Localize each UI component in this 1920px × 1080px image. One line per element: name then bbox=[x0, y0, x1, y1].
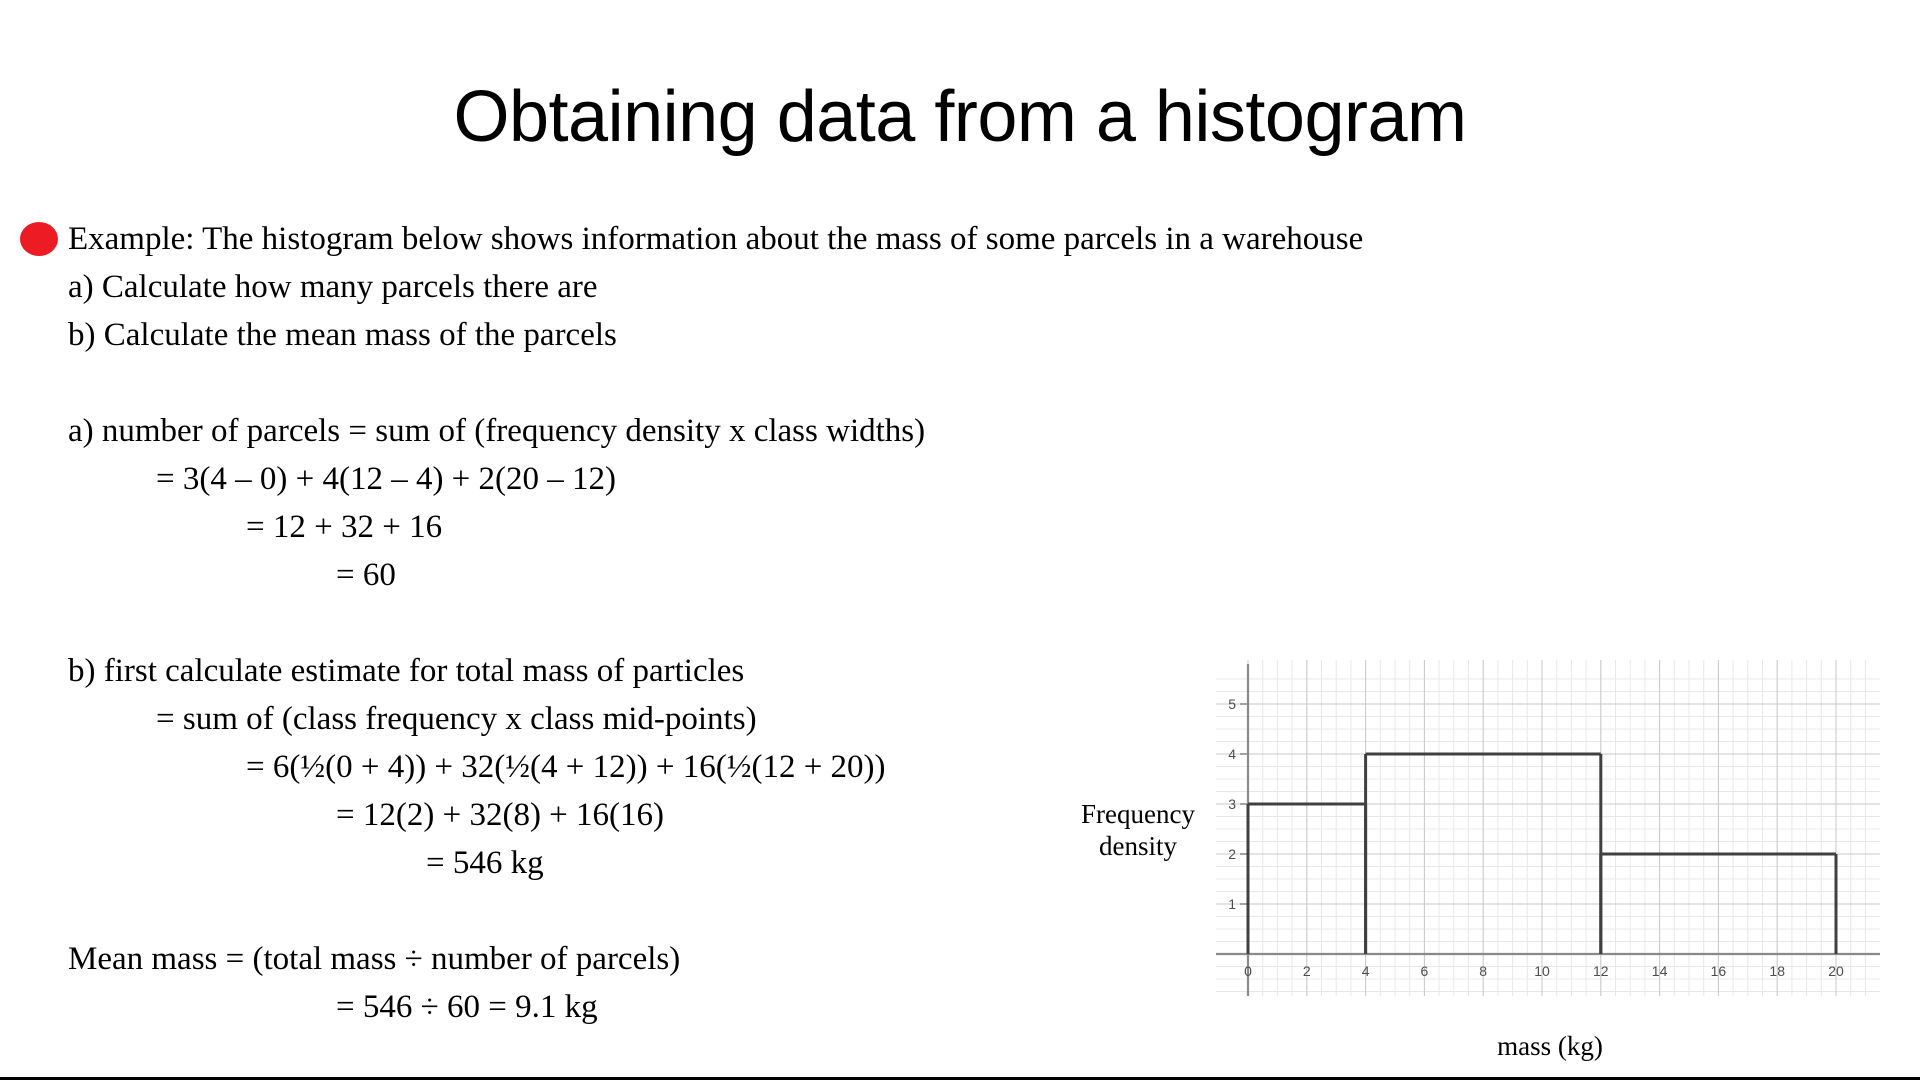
chart-y-axis-label: Frequencydensity bbox=[1068, 798, 1208, 862]
x-tick-label: 10 bbox=[1534, 963, 1550, 979]
chart-y-axis-label-line: density bbox=[1068, 830, 1208, 862]
page-title: Obtaining data from a histogram bbox=[0, 76, 1920, 158]
chart-x-axis-label: mass (kg) bbox=[1420, 1030, 1680, 1062]
body-text-line: = 12 + 32 + 16 bbox=[68, 503, 1868, 551]
text-spacer bbox=[68, 599, 1868, 647]
x-tick-label: 18 bbox=[1769, 963, 1785, 979]
y-tick-label: 4 bbox=[1228, 746, 1236, 762]
x-tick-label: 16 bbox=[1711, 963, 1727, 979]
body-text-line: b) Calculate the mean mass of the parcel… bbox=[68, 311, 1868, 359]
body-text-line: Example: The histogram below shows infor… bbox=[68, 215, 1868, 263]
histogram-plot-area: 1234502468101214161820 bbox=[1216, 660, 1880, 996]
x-tick-label: 2 bbox=[1303, 963, 1311, 979]
slide-canvas: Obtaining data from a histogram Example:… bbox=[0, 0, 1920, 1080]
chart-y-axis-label-line: Frequency bbox=[1068, 798, 1208, 830]
y-tick-label: 5 bbox=[1228, 696, 1236, 712]
x-tick-label: 12 bbox=[1593, 963, 1609, 979]
x-tick-label: 6 bbox=[1421, 963, 1429, 979]
body-text-line: a) number of parcels = sum of (frequency… bbox=[68, 407, 1868, 455]
text-spacer bbox=[68, 359, 1868, 407]
body-text-line: = 60 bbox=[68, 551, 1868, 599]
x-tick-label: 20 bbox=[1828, 963, 1844, 979]
y-tick-label: 1 bbox=[1228, 896, 1236, 912]
x-tick-label: 4 bbox=[1362, 963, 1370, 979]
x-tick-label: 0 bbox=[1244, 963, 1252, 979]
red-bullet-icon bbox=[20, 222, 58, 256]
y-tick-label: 2 bbox=[1228, 846, 1236, 862]
y-tick-label: 3 bbox=[1228, 796, 1236, 812]
x-tick-label: 14 bbox=[1652, 963, 1668, 979]
x-tick-label: 8 bbox=[1479, 963, 1487, 979]
body-text-line: a) Calculate how many parcels there are bbox=[68, 263, 1868, 311]
histogram-chart: 1234502468101214161820 bbox=[1216, 660, 1880, 996]
body-text-line: = 3(4 – 0) + 4(12 – 4) + 2(20 – 12) bbox=[68, 455, 1868, 503]
